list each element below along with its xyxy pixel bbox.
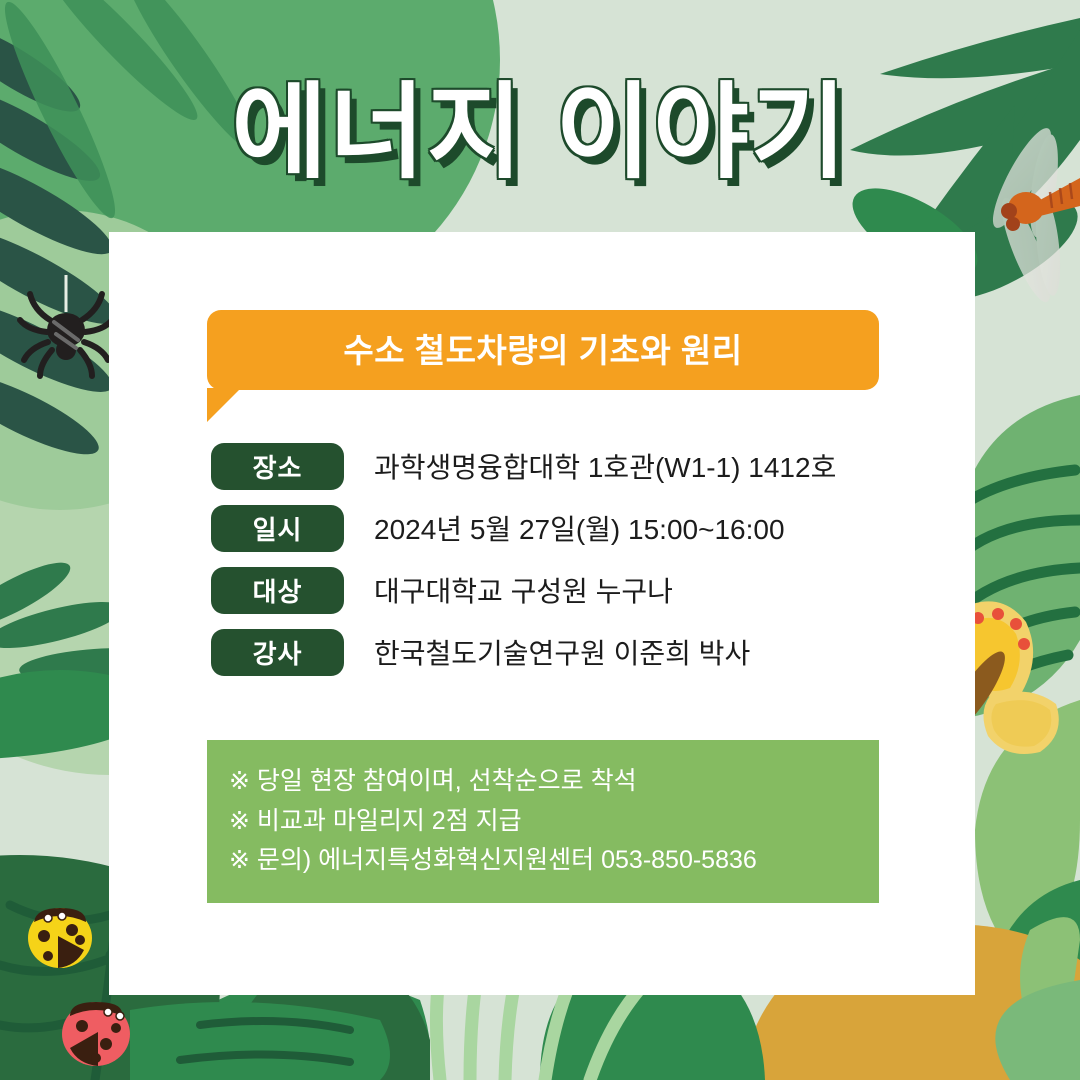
info-value-speaker: 한국철도기술연구원 이준희 박사	[374, 632, 750, 672]
info-list: 장소 과학생명융합대학 1호관(W1-1) 1412호 일시 2024년 5월 …	[211, 442, 951, 690]
ladybug-red	[62, 1002, 130, 1066]
poster-title-wrap: 에너지 이야기	[0, 74, 1080, 194]
note-line-attendance: ※ 당일 현장 참여이며, 선착순으로 착석	[229, 762, 879, 802]
info-value-audience: 대구대학교 구성원 누구나	[374, 570, 673, 610]
info-label-speaker: 강사	[211, 629, 344, 676]
info-row-venue: 장소 과학생명융합대학 1호관(W1-1) 1412호	[211, 442, 951, 490]
info-row-datetime: 일시 2024년 5월 27일(월) 15:00~16:00	[211, 504, 951, 552]
info-value-datetime: 2024년 5월 27일(월) 15:00~16:00	[374, 508, 785, 548]
content-card: 수소 철도차량의 기초와 원리 장소 과학생명융합대학 1호관(W1-1) 14…	[109, 232, 975, 995]
info-label-datetime: 일시	[211, 505, 344, 552]
info-label-audience: 대상	[211, 567, 344, 614]
note-line-contact: ※ 문의) 에너지특성화혁신지원센터 053-850-5836	[229, 841, 879, 881]
notes-box: ※ 당일 현장 참여이며, 선착순으로 착석 ※ 비교과 마일리지 2점 지급 …	[207, 740, 879, 903]
info-label-venue: 장소	[211, 443, 344, 490]
headline-text: 수소 철도차량의 기초와 원리	[343, 334, 742, 367]
info-row-audience: 대상 대구대학교 구성원 누구나	[211, 566, 951, 614]
page-title: 에너지 이야기	[232, 74, 849, 194]
note-line-mileage: ※ 비교과 마일리지 2점 지급	[229, 802, 879, 842]
poster-root: 에너지 이야기 수소 철도차량의 기초와 원리 장소 과학생명융합대학 1호관(…	[0, 0, 1080, 1080]
headline-banner: 수소 철도차량의 기초와 원리	[207, 310, 879, 390]
banner-tail-icon	[207, 388, 241, 422]
ladybug-yellow	[28, 908, 92, 968]
info-row-speaker: 강사 한국철도기술연구원 이준희 박사	[211, 628, 951, 676]
info-value-venue: 과학생명융합대학 1호관(W1-1) 1412호	[374, 446, 836, 486]
